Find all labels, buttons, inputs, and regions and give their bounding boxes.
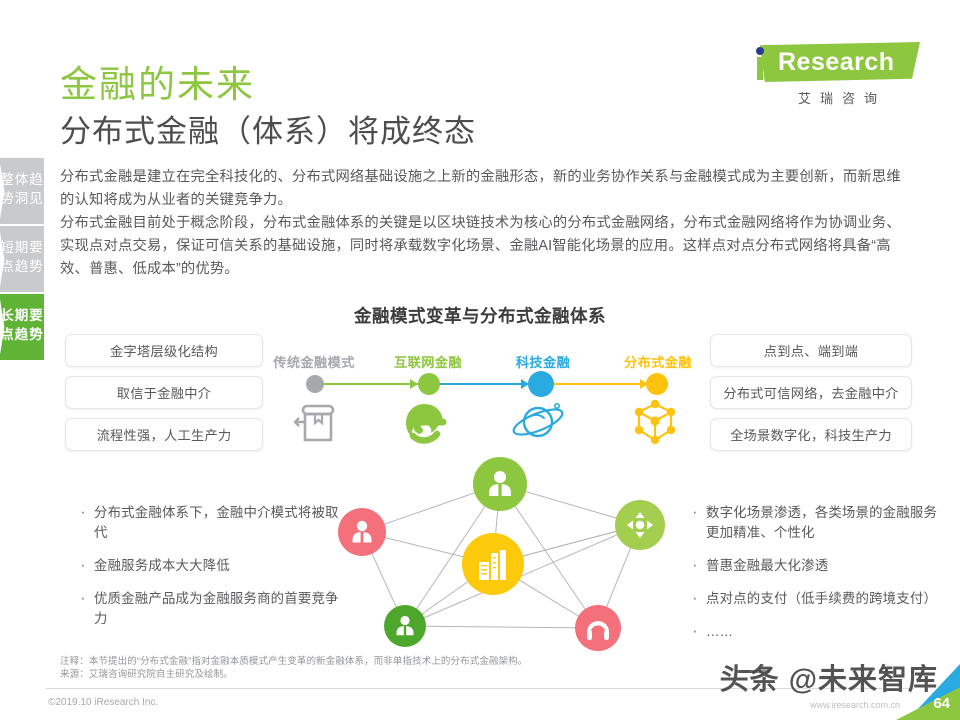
figure-title: 金融模式变革与分布式金融体系 (0, 303, 960, 328)
right-bullet-list: 数字化场景渗透，各类场景的金融服务更加精准、个性化 普惠金融最大化渗透 点对点的… (690, 503, 940, 655)
list-item: 点对点的支付（低手续费的跨境支付） (706, 589, 940, 609)
timeline-node-fintech (528, 371, 554, 397)
footnote-note: 注释：本节提出的“分布式金融”指对金融本质模式产生变革的新金融体系，而非单指技术… (60, 655, 527, 668)
right-attribute-pill: 全场景数字化，科技生产力 (710, 418, 912, 451)
edge-browser-icon (397, 396, 457, 448)
footnote-source: 来源：艾瑞咨询研究院自主研究及绘制。 (60, 668, 527, 681)
page-title: 分布式金融（体系）将成终态 (60, 106, 476, 151)
list-item: …… (706, 622, 940, 642)
network-node-right (615, 500, 665, 550)
network-node-left (338, 508, 386, 556)
timeline-connector (438, 383, 530, 385)
blockchain-cube-icon (625, 396, 685, 448)
right-attribute-pill: 点到点、端到端 (710, 334, 912, 367)
network-node-bottom-right (575, 605, 621, 651)
logo-mark: Research (742, 42, 920, 84)
section-tabs: 整体趋势洞见 短期要点趋势 长期要点趋势 (0, 158, 44, 360)
left-attribute-pill: 流程性强，人工生产力 (65, 418, 263, 451)
iresearch-logo: Research 艾瑞咨询 (742, 42, 932, 110)
website-url: www.iresearch.com.cn (810, 700, 900, 710)
timeline-connector (322, 383, 418, 385)
timeline-arrow-icon (410, 379, 418, 389)
right-attribute-pill: 分布式可信网络，去金融中介 (710, 376, 912, 409)
planet-icon (510, 396, 570, 448)
timeline-node-internet (418, 373, 440, 395)
list-item: 分布式金融体系下，金融中介模式将被取代 (94, 503, 340, 543)
logo-i-stem-icon (757, 57, 763, 80)
left-attribute-pill: 取信于金融中介 (65, 376, 263, 409)
logo-i-dot-icon (756, 47, 764, 55)
timeline-label-distributed: 分布式金融 (602, 352, 714, 371)
body-paragraph-1: 分布式金融是建立在完全科技化的、分布式网络基础设施之上新的金融形态，新的业务协作… (60, 166, 915, 212)
network-node-top (473, 457, 527, 511)
distributed-network-diagram (330, 452, 670, 657)
sidebar-item-label: 整体趋势洞见 (0, 170, 44, 208)
logo-chinese-name: 艾瑞咨询 (764, 88, 920, 107)
network-node-center (462, 533, 524, 595)
figure-footnote: 注释：本节提出的“分布式金融”指对金融本质模式产生变革的新金融体系，而非单指技术… (60, 655, 527, 681)
logo-wordmark: Research (778, 46, 895, 78)
timeline-node-traditional (306, 375, 324, 393)
timeline-label-fintech: 科技金融 (490, 352, 596, 371)
timeline-label-traditional: 传统金融模式 (258, 352, 370, 371)
list-item: 普惠金融最大化渗透 (706, 556, 940, 576)
network-node-bottom-left (384, 605, 426, 647)
left-bullet-list: 分布式金融体系下，金融中介模式将被取代 金融服务成本大大降低 优质金融产品成为金… (78, 503, 340, 642)
timeline-label-internet: 互联网金融 (372, 352, 484, 371)
page-eyebrow: 金融的未来 (60, 54, 255, 108)
list-item: 金融服务成本大大降低 (94, 556, 340, 576)
slide-canvas: Research 艾瑞咨询 金融的未来 分布式金融（体系）将成终态 分布式金融是… (0, 0, 960, 720)
left-attribute-pill: 金字塔层级化结构 (65, 334, 263, 367)
sidebar-item-overall-trends[interactable]: 整体趋势洞见 (0, 158, 44, 224)
body-paragraph-2: 分布式金融目前处于概念阶段，分布式金融体系的关键是以区块链技术为核心的分布式金融… (60, 212, 915, 281)
list-item: 数字化场景渗透，各类场景的金融服务更加精准、个性化 (706, 503, 940, 543)
list-item: 优质金融产品成为金融服务商的首要竞争力 (94, 589, 340, 629)
timeline-connector (552, 383, 648, 385)
copyright-text: ©2019.10 iResearch Inc. (48, 697, 158, 708)
sidebar-item-label: 短期要点趋势 (0, 238, 44, 276)
watermark-text: 头条 @未来智库 (720, 656, 938, 698)
sidebar-item-short-term-trends[interactable]: 短期要点趋势 (0, 226, 44, 292)
timeline-node-distributed (646, 373, 668, 395)
bank-icon (285, 398, 345, 450)
